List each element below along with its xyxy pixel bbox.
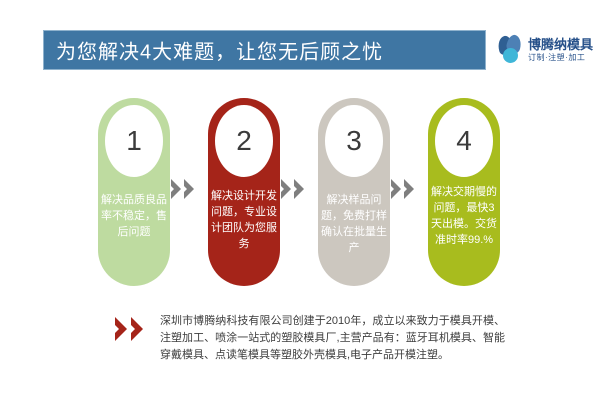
logo-company-name: 博腾纳模具 [528, 37, 593, 52]
step-number: 2 [236, 127, 252, 155]
step-description: 解决设计开发问题，专业设计团队为您服务 [211, 188, 277, 252]
company-description: 深圳市博腾纳科技有限公司创建于2010年，成立以来致力于模具开模、注塑加工、喷涂… [160, 313, 505, 364]
step-description: 解决交期慢的问题，最快3天出模。交货准时率99.% [431, 184, 497, 248]
step-number-circle: 2 [215, 105, 273, 177]
step-card-4: 4 解决交期慢的问题，最快3天出模。交货准时率99.% [428, 98, 500, 286]
double-chevron-right-icon [390, 178, 418, 200]
step-number: 4 [456, 127, 472, 155]
step-number: 3 [346, 127, 362, 155]
title-bar: 为您解决4大难题，让您无后顾之忧 [43, 30, 486, 70]
double-chevron-right-icon [114, 316, 150, 342]
step-number: 1 [126, 127, 142, 155]
step-card-3: 3 解决样品问题，免费打样确认在批量生产 [318, 98, 390, 286]
company-logo: 博腾纳模具 订制·注塑·加工 [498, 28, 596, 72]
header: 为您解决4大难题，让您无后顾之忧 博腾纳模具 订制·注塑·加工 [0, 0, 600, 92]
logo-company-tagline: 订制·注塑·加工 [528, 52, 593, 63]
logo-butterfly-icon [498, 35, 524, 65]
step-description: 解决样品问题，免费打样确认在批量生产 [321, 192, 387, 256]
logo-text-block: 博腾纳模具 订制·注塑·加工 [528, 37, 593, 63]
steps-row: 1 解决品质良品率不稳定，售后问题 2 解决设计开发问题，专业设计团队为您服务 … [0, 98, 600, 288]
step-description: 解决品质良品率不稳定，售后问题 [101, 192, 167, 240]
step-card-1: 1 解决品质良品率不稳定，售后问题 [98, 98, 170, 286]
double-chevron-right-icon [170, 178, 198, 200]
step-card-2: 2 解决设计开发问题，专业设计团队为您服务 [208, 98, 280, 286]
page-title: 为您解决4大难题，让您无后顾之忧 [56, 36, 383, 65]
double-chevron-right-icon [280, 178, 308, 200]
step-number-circle: 1 [105, 105, 163, 177]
step-number-circle: 4 [435, 105, 493, 177]
footer: 深圳市博腾纳科技有限公司创建于2010年，成立以来致力于模具开模、注塑加工、喷涂… [0, 300, 600, 390]
step-number-circle: 3 [325, 105, 383, 177]
